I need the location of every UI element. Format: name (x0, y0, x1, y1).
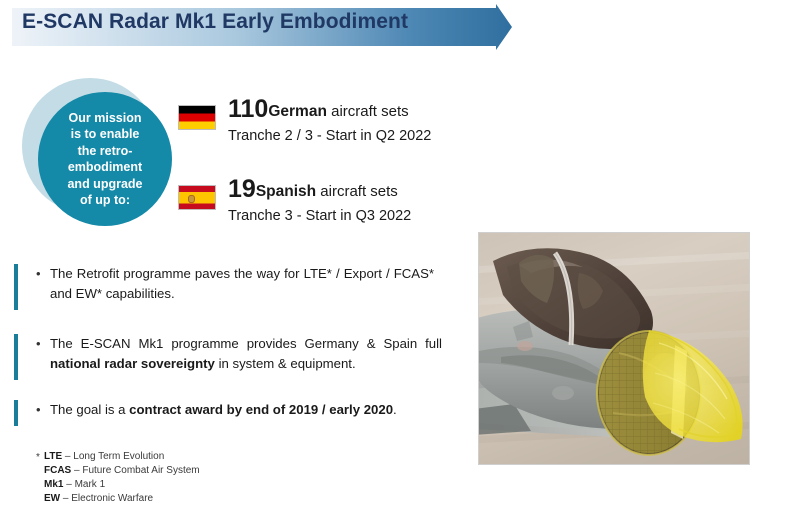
bullet-accent-bar (14, 264, 18, 310)
abbreviation-legend: * LTE – Long Term Evolution FCAS – Futur… (44, 450, 200, 506)
bullet-1-pre: The Retrofit programme paves the way for… (50, 266, 434, 301)
bullet-accent-bar (14, 400, 18, 426)
bullet-3-post: . (393, 402, 397, 417)
mission-statement-block: Our mission is to enable the retro- embo… (22, 78, 180, 236)
spanish-unit: aircraft sets (316, 183, 398, 200)
mission-text: Our mission is to enable the retro- embo… (45, 110, 165, 209)
country-row-german: 110German aircraft sets Tranche 2 / 3 - … (178, 96, 431, 147)
country-row-spanish: 19Spanish aircraft sets Tranche 3 - Star… (178, 176, 411, 227)
bullet-2-pre: The E-SCAN Mk1 programme provides German… (50, 336, 442, 351)
bullet-3-bold: contract award by end of 2019 / early 20… (129, 402, 393, 417)
bullet-item-contract-goal: • The goal is a contract award by end of… (14, 400, 444, 420)
legend-abbr-mk1: Mk1 (44, 479, 63, 490)
german-figures: 110German aircraft sets Tranche 2 / 3 - … (228, 96, 431, 147)
german-unit: aircraft sets (327, 103, 409, 120)
slide-title-banner: E-SCAN Radar Mk1 Early Embodiment (12, 4, 512, 50)
bullet-dot-icon: • (36, 264, 50, 284)
bullet-3-pre: The goal is a (50, 402, 129, 417)
german-headline: 110German aircraft sets (228, 96, 431, 125)
bullet-2-post: in system & equipment. (215, 356, 356, 371)
page-title: E-SCAN Radar Mk1 Early Embodiment (22, 10, 408, 34)
legend-abbr-ew: EW (44, 493, 60, 504)
footnote-asterisk: * (36, 451, 40, 465)
legend-row-ew: EW – Electronic Warfare (44, 492, 200, 506)
bullet-text-retrofit: The Retrofit programme paves the way for… (50, 264, 434, 304)
legend-meaning-mk1: Mark 1 (75, 479, 106, 490)
legend-meaning-ew: Electronic Warfare (71, 493, 153, 504)
german-flag-icon (178, 105, 216, 130)
bullet-accent-bar (14, 334, 18, 380)
aircraft-radar-photo (478, 232, 750, 465)
german-nationality: German (268, 103, 327, 120)
legend-row-lte: LTE – Long Term Evolution (44, 450, 200, 464)
bullet-2-bold: national radar sovereignty (50, 356, 215, 371)
bullet-dot-icon: • (36, 334, 50, 354)
spanish-flag-icon (178, 185, 216, 210)
mission-circle: Our mission is to enable the retro- embo… (38, 92, 172, 226)
spanish-detail: Tranche 3 - Start in Q3 2022 (228, 205, 411, 227)
legend-abbr-lte: LTE (44, 451, 62, 462)
bullet-text-contract-goal: The goal is a contract award by end of 2… (50, 400, 442, 420)
spanish-nationality: Spanish (256, 183, 316, 200)
german-count: 110 (228, 95, 268, 123)
typhoon-nose-illustration (479, 233, 750, 465)
legend-row-mk1: Mk1 – Mark 1 (44, 478, 200, 492)
legend-meaning-lte: Long Term Evolution (73, 451, 164, 462)
spanish-coat-of-arms-icon (188, 195, 195, 203)
legend-dash: – (62, 451, 73, 462)
bullet-item-retrofit: • The Retrofit programme paves the way f… (14, 264, 434, 304)
legend-abbr-fcas: FCAS (44, 465, 71, 476)
spanish-figures: 19Spanish aircraft sets Tranche 3 - Star… (228, 176, 411, 227)
legend-meaning-fcas: Future Combat Air System (82, 465, 199, 476)
german-detail: Tranche 2 / 3 - Start in Q2 2022 (228, 125, 431, 147)
legend-dash: – (60, 493, 71, 504)
bullet-text-sovereignty: The E-SCAN Mk1 programme provides German… (50, 334, 442, 374)
bullet-dot-icon: • (36, 400, 50, 420)
bullet-item-sovereignty: • The E-SCAN Mk1 programme provides Germ… (14, 334, 444, 374)
legend-dash: – (63, 479, 74, 490)
spanish-headline: 19Spanish aircraft sets (228, 176, 411, 205)
spanish-count: 19 (228, 175, 256, 203)
legend-row-fcas: FCAS – Future Combat Air System (44, 464, 200, 478)
legend-dash: – (71, 465, 82, 476)
